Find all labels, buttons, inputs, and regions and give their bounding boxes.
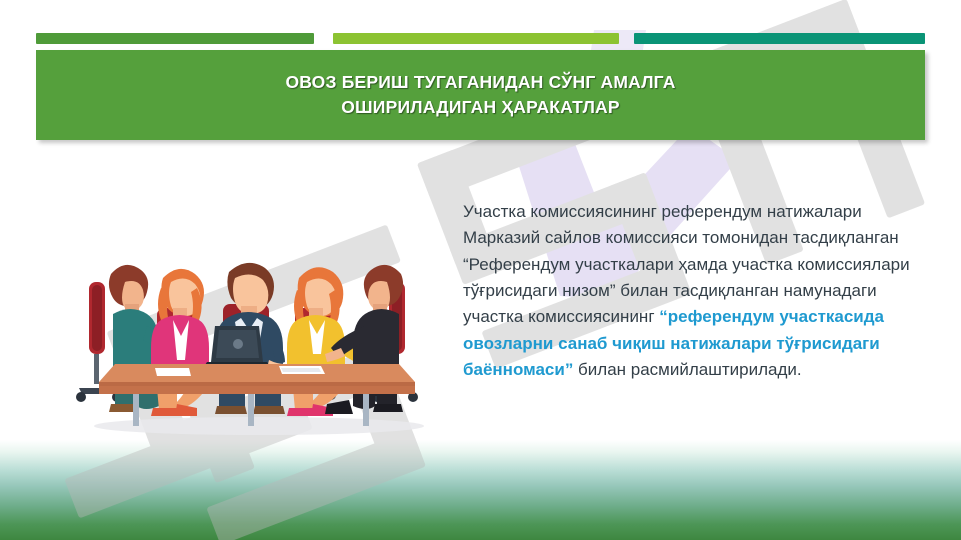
- accent-bar-green: [36, 33, 314, 44]
- accent-bar-lime: [333, 33, 619, 44]
- slide-canvas: ОВОЗ БЕРИШ ТУГАГАНИДАН СЎНГ АМАЛГА ОШИРИ…: [0, 0, 961, 540]
- body-paragraph: Участка комиссиясининг референдум натижа…: [463, 199, 925, 383]
- accent-bar-teal: [634, 33, 925, 44]
- header-accent-bars: [0, 0, 961, 50]
- title-banner: ОВОЗ БЕРИШ ТУГАГАНИДАН СЎНГ АМАЛГА ОШИРИ…: [36, 50, 925, 140]
- bottom-gradient-band: [0, 440, 961, 540]
- body-tail: билан расмийлаштирилади.: [573, 360, 801, 379]
- page-title: ОВОЗ БЕРИШ ТУГАГАНИДАН СЎНГ АМАЛГА ОШИРИ…: [225, 70, 735, 120]
- meeting-table-illustration: [63, 238, 449, 438]
- body-text-block: Участка комиссиясининг референдум натижа…: [463, 182, 925, 400]
